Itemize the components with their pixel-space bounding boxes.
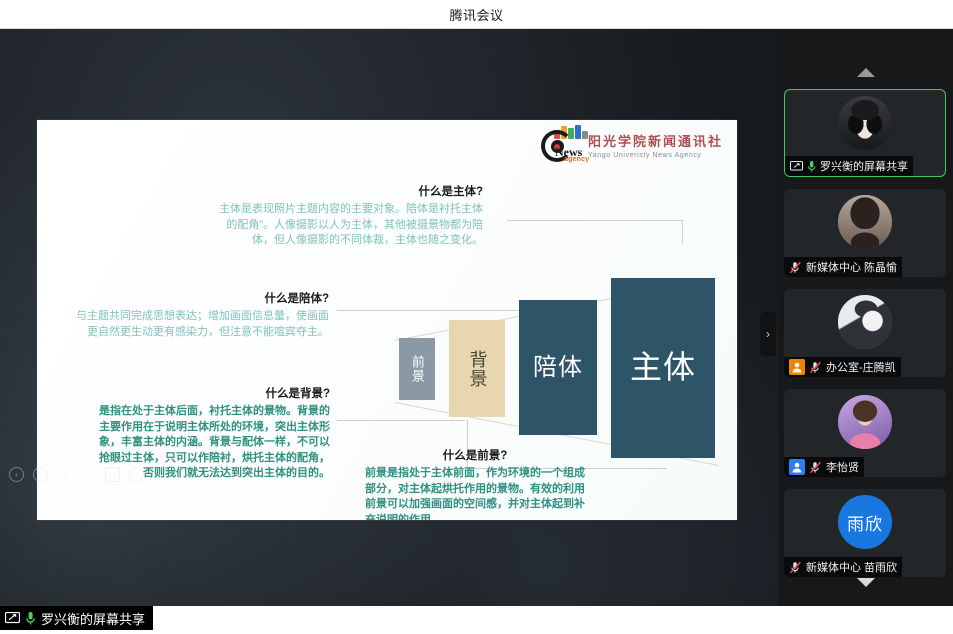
screen-share-icon <box>5 612 20 625</box>
rail-scroll-up-button[interactable] <box>778 59 953 85</box>
logo-chinese-name: 阳光学院新闻通讯社 <box>588 131 723 150</box>
participant-tile-3[interactable]: 李怡贤 <box>784 389 946 477</box>
window-title: 腾讯会议 <box>449 5 503 24</box>
screen-share-status-label: 罗兴衡的屏幕共享 <box>41 609 145 628</box>
slide-block-qianjing-body: 前景是指处于主体前面，作为环境的一个组成部分，对主体起烘托作用的景物。有效的利用… <box>365 466 585 520</box>
funnel-segment-peiti: 陪体 <box>519 300 597 435</box>
avatar <box>838 395 892 449</box>
participant-name-0: 罗兴衡的屏幕共享 <box>820 158 908 174</box>
microphone-muted-icon <box>789 261 802 274</box>
participant-name-3: 李怡贤 <box>826 459 859 475</box>
avatar-photo <box>838 195 892 249</box>
participant-name-2: 办公室-庄腾凯 <box>826 359 896 375</box>
collapse-panel-button[interactable]: › <box>760 312 776 356</box>
participant-name-bar-1: 新媒体中心 陈晶愉 <box>784 257 902 277</box>
avatar <box>838 96 892 150</box>
meeting-body: News agency 阳光学院新闻通讯社 Yango Univeristy N… <box>0 29 953 606</box>
prev-slide-button[interactable]: ‹ <box>9 467 24 482</box>
shared-slide[interactable]: News agency 阳光学院新闻通讯社 Yango Univeristy N… <box>37 120 737 520</box>
participant-name-bar-2: 办公室-庄腾凯 <box>784 357 901 377</box>
avatar-photo <box>838 96 892 150</box>
logo-sub-wordmark: agency <box>564 156 589 163</box>
avatar <box>838 195 892 249</box>
participant-name-bar-3: 李怡贤 <box>784 457 864 477</box>
slide-block-zhuti: 什么是主体? 主体是表现照片主题内容的主要对象。陪体是衬托主体的配角”。人像摄影… <box>215 183 483 249</box>
tencent-meeting-window: 腾讯会议 <box>0 0 953 634</box>
microphone-icon <box>25 611 36 626</box>
slide-block-qianjing-heading: 什么是前景? <box>365 447 585 463</box>
funnel-segment-zhuti: 主体 <box>611 278 715 458</box>
annotate-pen-button[interactable]: ✎ <box>57 467 72 482</box>
cohost-badge-icon <box>789 459 805 475</box>
slide-block-peiti: 什么是陪体? 与主题共同完成思想表达；增加画面信息量，使画面更自然更生动更有感染… <box>67 290 329 340</box>
next-slide-button[interactable]: › <box>33 467 48 482</box>
participant-tile-1[interactable]: 新媒体中心 陈晶愉 <box>784 189 946 277</box>
logo-camera-icon: News agency <box>540 125 584 165</box>
slide-block-peiti-heading: 什么是陪体? <box>67 290 329 306</box>
slide-block-zhuti-heading: 什么是主体? <box>215 183 483 199</box>
slide-block-zhuti-body: 主体是表现照片主题内容的主要对象。陪体是衬托主体的配角”。人像摄影以人为主体，其… <box>215 202 483 249</box>
slide-block-qianjing: 什么是前景? 前景是指处于主体前面，作为环境的一个组成部分，对主体起烘托作用的景… <box>365 447 585 520</box>
slide-block-peiti-body: 与主题共同完成思想表达；增加画面信息量，使画面更自然更生动更有感染力，但注意不能… <box>67 309 329 340</box>
title-bar: 腾讯会议 <box>0 0 953 29</box>
avatar-initials-text: 雨欣 <box>847 510 883 535</box>
news-agency-logo: News agency 阳光学院新闻通讯社 Yango Univeristy N… <box>540 125 723 165</box>
more-options-button[interactable]: ⋯ <box>129 467 144 482</box>
participant-tile-4[interactable]: 雨欣 新媒体中心 苗雨欣 <box>784 489 946 577</box>
microphone-muted-icon <box>809 461 822 474</box>
host-badge-icon <box>789 359 805 375</box>
avatar <box>838 295 892 349</box>
funnel-segment-beijing: 背景 <box>449 320 505 417</box>
avatar-photo <box>838 295 892 349</box>
fit-screen-button[interactable]: ⛶ <box>81 467 96 482</box>
triangle-up-icon <box>857 68 875 77</box>
logo-english-name: Yango Univeristy News Agency <box>588 152 723 159</box>
funnel-segment-qianjing: 前景 <box>399 338 435 400</box>
triangle-down-icon <box>857 578 875 587</box>
participant-tile-2[interactable]: 办公室-庄腾凯 <box>784 289 946 377</box>
screen-share-status-pill[interactable]: 罗兴衡的屏幕共享 <box>0 606 153 630</box>
screen-share-icon <box>790 161 803 172</box>
participant-name-bar-0: 罗兴衡的屏幕共享 <box>785 156 913 176</box>
microphone-muted-icon <box>809 361 822 374</box>
chevron-right-icon: › <box>766 327 770 341</box>
presenter-view-button[interactable]: ▭ <box>105 467 120 482</box>
status-bar: 罗兴衡的屏幕共享 <box>0 606 953 634</box>
shared-screen-stage[interactable]: News agency 阳光学院新闻通讯社 Yango Univeristy N… <box>0 29 778 606</box>
slide-overlay-toolbar[interactable]: ‹ › ✎ ⛶ ▭ ⋯ <box>9 467 144 482</box>
participant-rail: 罗兴衡的屏幕共享 新媒体中 <box>778 29 953 606</box>
participant-name-1: 新媒体中心 陈晶愉 <box>806 259 897 275</box>
rail-scroll-down-button[interactable] <box>778 569 953 595</box>
slide-block-beijing-heading: 什么是背景? <box>95 385 330 401</box>
microphone-icon <box>807 160 816 173</box>
avatar-initials: 雨欣 <box>838 495 892 549</box>
participant-tile-0[interactable]: 罗兴衡的屏幕共享 <box>784 89 946 177</box>
avatar-photo <box>838 395 892 449</box>
